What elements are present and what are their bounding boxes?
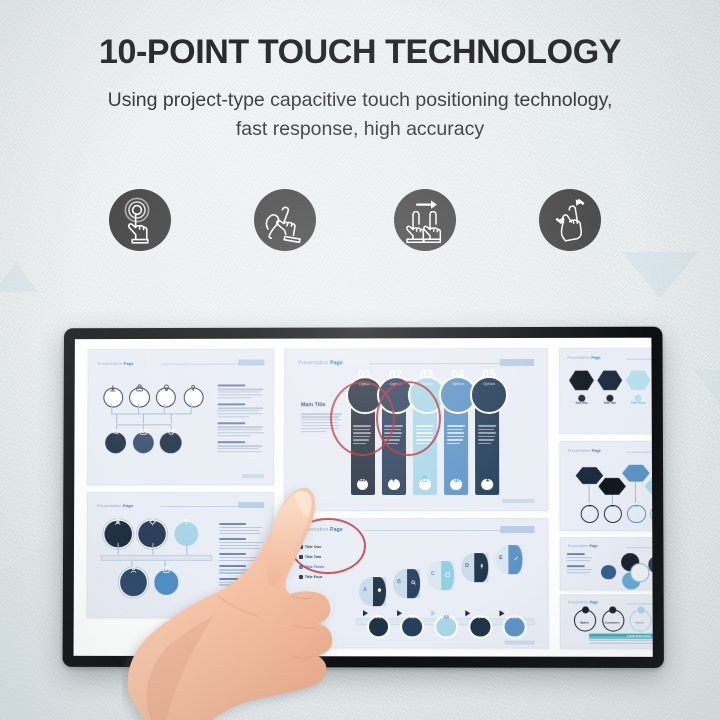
header-rule xyxy=(364,530,506,531)
slide-kicker-accent: Page xyxy=(124,360,134,365)
hex-shape[interactable] xyxy=(576,467,604,485)
page-title: 10-POINT TOUCH TECHNOLOGY xyxy=(0,33,720,72)
org-chart-graphic xyxy=(101,382,207,466)
step-node[interactable]: 02 xyxy=(401,615,425,639)
arrow-icon xyxy=(397,610,402,616)
bullet-icon xyxy=(299,565,302,568)
slide-letter-timeline[interactable]: Presentation Page Title One xyxy=(284,518,549,649)
slide-header: Presentation Page xyxy=(298,359,534,368)
hex-label: Title One xyxy=(569,401,594,405)
letter-leaves: A B C xyxy=(356,542,535,609)
slide-kicker: Presentation Page xyxy=(298,360,343,366)
slide-pins[interactable]: Presentation Page xyxy=(559,594,652,649)
poster-canvas: 10-POINT TOUCH TECHNOLOGY Using project-… xyxy=(0,0,720,720)
slide-kicker-accent: Page xyxy=(591,356,600,360)
header-chip xyxy=(501,526,535,533)
header-rule xyxy=(161,363,241,364)
network-node[interactable] xyxy=(601,565,616,580)
slide-kicker-accent: Page xyxy=(590,544,598,548)
number-value: 02 xyxy=(389,371,402,382)
slide-header: Presentation Page xyxy=(568,543,653,552)
list-item: Title Three xyxy=(299,564,349,569)
step-node[interactable]: 03 xyxy=(435,615,459,639)
slide-kicker-accent: Page xyxy=(330,360,343,366)
network-center xyxy=(631,564,649,582)
pin-label: Option xyxy=(571,622,597,625)
slide-kicker-accent: Page xyxy=(592,449,601,453)
page-subtitle: Using project-type capacitive touch posi… xyxy=(0,86,720,144)
monitor-screen[interactable]: Presentation Page xyxy=(74,338,653,657)
list-item-title: Title Four xyxy=(305,574,323,579)
slide-footer xyxy=(505,640,535,644)
anchor-icon xyxy=(450,479,462,491)
list-item-title: Title Two xyxy=(305,554,321,559)
step-label: 03 xyxy=(635,504,638,508)
gesture-icon-row xyxy=(0,189,720,259)
number-value: 01 xyxy=(358,371,371,382)
hex-shape[interactable] xyxy=(597,370,622,391)
text-block xyxy=(566,553,593,575)
slide-gear-timeline[interactable]: Presentation Page xyxy=(86,492,274,618)
slide-kicker: Presentation Page xyxy=(568,544,598,548)
list-item: Title One xyxy=(299,544,349,549)
letter-label: C xyxy=(431,571,435,577)
background-triangle xyxy=(0,262,38,292)
letter-label: E xyxy=(499,555,503,561)
arrow-icon xyxy=(465,610,470,616)
letter-label: A xyxy=(363,587,367,593)
slide-hex-cluster[interactable]: Presentation Page 01 02 xyxy=(559,441,653,531)
header-chip xyxy=(500,359,534,366)
slide-header: Presentation Page xyxy=(97,502,264,511)
number-caption: Option xyxy=(452,382,464,386)
network-node[interactable] xyxy=(649,557,653,573)
bullet-icon xyxy=(299,545,302,548)
slide-kicker: Presentation Page xyxy=(568,449,601,453)
slide-org-chart[interactable]: Presentation Page xyxy=(87,349,275,486)
step-badge: 01 xyxy=(581,505,599,523)
hex-shape[interactable] xyxy=(622,464,650,482)
number-caption: Option xyxy=(483,382,495,386)
slide-kicker: Presentation Page xyxy=(97,503,133,508)
header-chip xyxy=(238,502,264,508)
slide-header: Presentation Page xyxy=(298,526,535,535)
step-badge: 03 xyxy=(627,505,645,523)
list-item: Title Four xyxy=(299,574,349,579)
hex-shape[interactable] xyxy=(626,370,651,391)
number-value: 03 xyxy=(420,371,433,382)
text-block xyxy=(219,523,264,587)
main-title-body xyxy=(301,414,343,434)
step-label: 02 xyxy=(611,504,614,508)
network-graphic xyxy=(598,552,653,584)
slide-kicker: Presentation Page xyxy=(298,527,343,533)
bullet-list: Title One Title Two xyxy=(299,544,349,581)
single-tap-gesture-icon xyxy=(109,189,171,251)
slide-kicker: Presentation Page xyxy=(98,360,134,365)
step-label: 01 xyxy=(376,614,381,619)
letter-leaf[interactable]: A xyxy=(359,577,386,607)
hex-cluster-graphic: 01 02 03 04 05 xyxy=(576,463,653,523)
pin-icon[interactable] xyxy=(574,609,596,631)
two-finger-swipe-gesture-icon xyxy=(394,189,456,251)
step-node[interactable]: 01 xyxy=(367,615,391,639)
arrow-icon xyxy=(499,610,504,616)
header-rule xyxy=(369,363,506,364)
slide-hex-row[interactable]: Presentation Page Title O xyxy=(559,348,653,435)
header-chip xyxy=(239,359,265,365)
background-triangle xyxy=(694,370,720,410)
text-block xyxy=(589,637,653,646)
step-node[interactable]: 04 xyxy=(469,615,493,639)
main-title: Main Title xyxy=(301,402,326,408)
list-item-title: Title Three xyxy=(305,564,325,569)
slide-main-numbers[interactable]: Presentation Page Main Title xyxy=(284,348,549,511)
touch-monitor: Presentation Page xyxy=(63,327,664,668)
header-rule xyxy=(628,604,653,605)
step-axis: 01 02 03 04 05 xyxy=(356,605,535,634)
letter-leaf[interactable]: B xyxy=(393,569,420,599)
list-item-title: Title One xyxy=(305,544,322,549)
drag-scribble-gesture-icon xyxy=(254,189,316,251)
step-badge: 02 xyxy=(603,505,621,523)
letter-label: B xyxy=(397,579,401,585)
slide-kicker-accent: Page xyxy=(330,527,343,533)
number-caption: Option xyxy=(359,383,371,387)
subtitle-line-1: Using project-type capacitive touch posi… xyxy=(108,89,613,111)
trophy-icon xyxy=(482,479,494,491)
lightbulb-icon xyxy=(388,479,400,491)
slide-footer xyxy=(242,474,264,478)
number-value: 05 xyxy=(482,370,495,381)
letter-leaf[interactable]: D xyxy=(461,553,488,583)
hex-label: Title Three xyxy=(626,401,651,405)
slide-kicker-accent: Page xyxy=(590,601,599,605)
hex-shape[interactable] xyxy=(598,477,626,495)
bullet-icon xyxy=(299,555,302,558)
letter-label: D xyxy=(465,563,469,569)
header-rule xyxy=(627,452,653,453)
step-label: 03 xyxy=(444,614,449,619)
step-label: 01 xyxy=(588,504,591,508)
pin-icon[interactable] xyxy=(630,609,652,631)
number-value: 04 xyxy=(451,371,464,382)
book-icon xyxy=(357,479,369,491)
subtitle-line-2: fast response, high accuracy xyxy=(0,115,720,144)
step-label: 05 xyxy=(512,614,517,619)
slide-header: Presentation Page xyxy=(568,448,653,457)
pin-icon[interactable] xyxy=(602,609,624,631)
pin-label: Option xyxy=(627,622,653,625)
slide-kicker: Presentation Page xyxy=(567,356,600,360)
number-columns: 01 Option 02 Option 03 Option xyxy=(351,376,532,495)
number-badge[interactable]: 05 Option xyxy=(470,376,508,414)
arrow-icon xyxy=(363,610,368,616)
slide-header: Presentation Page xyxy=(98,359,265,368)
slide-kicker: Presentation Page xyxy=(568,601,598,605)
pins-graphic: Option Conclusion Option Conclusion xyxy=(571,609,652,631)
hex-shape[interactable] xyxy=(569,370,594,391)
step-label: 02 xyxy=(410,614,415,619)
step-label: 04 xyxy=(478,614,483,619)
step-badge: 04 xyxy=(650,505,653,523)
number-caption: Option xyxy=(421,383,433,387)
slide-footer xyxy=(503,499,535,503)
slide-header: Presentation Page xyxy=(567,355,652,364)
number-caption: Option xyxy=(390,383,402,387)
list-item: Title Two xyxy=(299,554,349,559)
pinch-zoom-gesture-icon xyxy=(539,189,601,251)
slide-kicker-accent: Page xyxy=(123,503,133,508)
lock-icon xyxy=(419,479,431,491)
step-node[interactable]: 05 xyxy=(503,615,527,639)
hex-row-graphic: Title One Title Two Title Three Title Fo… xyxy=(569,370,653,425)
slide-network[interactable]: Presentation Page xyxy=(559,537,653,590)
header-rule xyxy=(627,359,653,360)
gear-timeline-graphic xyxy=(100,521,210,603)
hex-label: Title Two xyxy=(597,401,622,405)
header-rule xyxy=(627,547,652,548)
text-block xyxy=(218,385,265,454)
header-rule xyxy=(160,506,240,507)
arrow-icon xyxy=(431,610,436,616)
slide-footer xyxy=(242,607,264,611)
bullet-icon xyxy=(299,575,302,578)
pin-label: Conclusion xyxy=(599,622,625,625)
letter-leaf[interactable]: C xyxy=(427,561,454,591)
hex-shape[interactable] xyxy=(645,477,653,495)
letter-leaf[interactable]: E xyxy=(495,545,522,575)
